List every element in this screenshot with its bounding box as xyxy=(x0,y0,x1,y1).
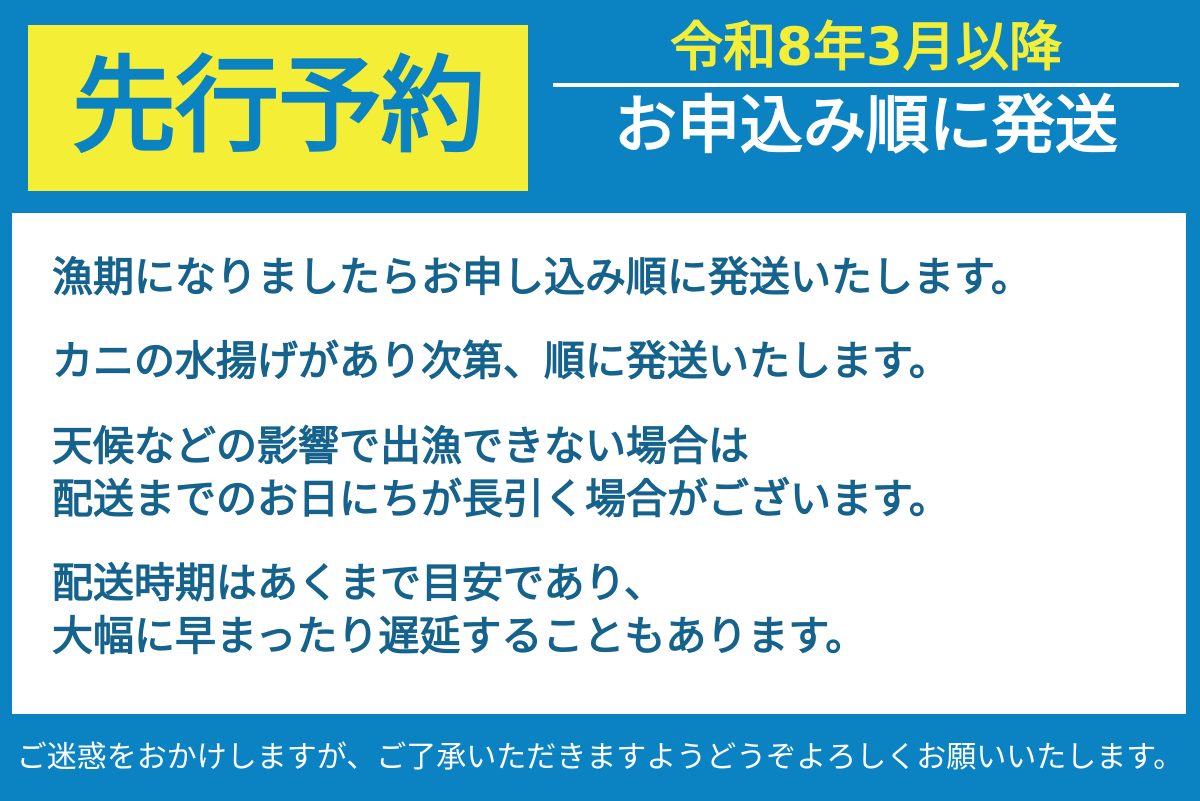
header-right-block: 令和8年3月以降 お申込み順に発送 xyxy=(552,20,1180,195)
notice-line: 大幅に早まったり遅延することもあります。 xyxy=(52,610,1186,663)
shipping-start-date: 令和8年3月以降 xyxy=(670,20,1062,76)
notice-line: 配送時期はあくまで目安であり、 xyxy=(52,557,1186,610)
footer-apology-note: ご迷惑をおかけしますが、ご了承いただきますようどうぞよろしくお願いいたします。 xyxy=(17,743,1183,773)
header-divider xyxy=(553,83,1179,87)
notice-line: 天候などの影響で出漁できない場合は xyxy=(52,420,1186,473)
promotional-banner: 先行予約 令和8年3月以降 お申込み順に発送 漁期になりましたらお申し込み順に発… xyxy=(0,0,1200,801)
banner-header: 先行予約 令和8年3月以降 お申込み順に発送 xyxy=(0,0,1200,213)
notice-panel: 漁期になりましたらお申し込み順に発送いたします。 カニの水揚げがあり次第、順に発… xyxy=(12,213,1186,714)
shipping-order-subtitle: お申込み順に発送 xyxy=(614,91,1118,162)
notice-line: 漁期になりましたらお申し込み順に発送いたします。 xyxy=(52,251,1186,304)
notice-paragraph: 配送時期はあくまで目安であり、 大幅に早まったり遅延することもあります。 xyxy=(52,557,1186,664)
preorder-badge: 先行予約 xyxy=(28,25,528,191)
notice-line: 配送までのお日にちが長引く場合がございます。 xyxy=(52,473,1186,526)
notice-paragraph: カニの水揚げがあり次第、順に発送いたします。 xyxy=(52,335,1186,388)
banner-footer: ご迷惑をおかけしますが、ご了承いただきますようどうぞよろしくお願いいたします。 xyxy=(0,714,1200,801)
preorder-badge-label: 先行予約 xyxy=(72,54,484,158)
notice-line: カニの水揚げがあり次第、順に発送いたします。 xyxy=(52,335,1186,388)
notice-paragraph: 漁期になりましたらお申し込み順に発送いたします。 xyxy=(52,251,1186,304)
notice-paragraph: 天候などの影響で出漁できない場合は 配送までのお日にちが長引く場合がございます。 xyxy=(52,420,1186,527)
